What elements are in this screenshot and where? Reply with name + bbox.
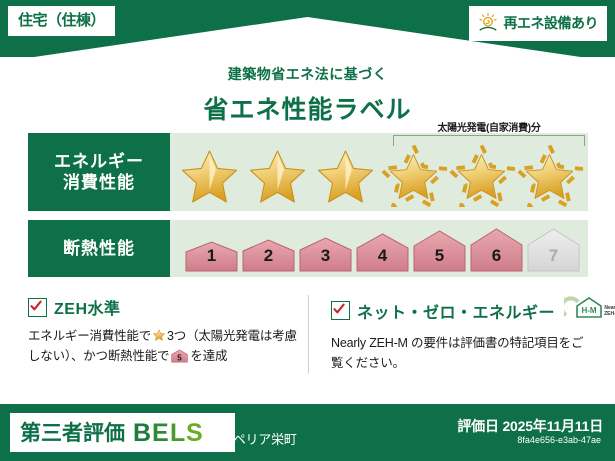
- third-party-evaluation-label: 第三者評価: [20, 417, 125, 447]
- zeh-desc-part3: を達成: [190, 349, 227, 363]
- svg-text:5: 5: [178, 354, 183, 363]
- star-1: [176, 145, 243, 207]
- insulation-performance-row: 断熱性能: [28, 220, 588, 277]
- net-zero-energy-title: ネット・ゼロ・エネルギー: [357, 299, 555, 323]
- insulation-level-4-number: 4: [355, 246, 410, 266]
- renewable-equipment-tag: 再エネ設備あり: [469, 6, 608, 41]
- star-6-solar: [516, 145, 583, 207]
- insulation-level-6: 6: [469, 227, 524, 273]
- svg-text:ZEH-M: ZEH-M: [604, 311, 615, 317]
- star-icon: [152, 328, 166, 342]
- energy-rating-area: 太陽光発電(自家消費)分: [170, 133, 588, 211]
- energy-label-line1: エネルギー: [54, 151, 144, 172]
- star-4-solar: [380, 145, 447, 207]
- energy-star-rating: [176, 145, 583, 207]
- insulation-label-text: 断熱性能: [63, 238, 135, 259]
- insulation-level-2-number: 2: [241, 246, 296, 266]
- evaluation-date: 評価日 2025年11月11日: [457, 416, 603, 436]
- house-level-5-icon: 5: [171, 352, 188, 366]
- star-5-solar: [448, 145, 515, 207]
- insulation-level-2: 2: [241, 238, 296, 273]
- renewable-tag-label: 再エネ設備あり: [504, 16, 599, 30]
- star-3: [312, 145, 379, 207]
- energy-performance-label: エネルギー 消費性能: [28, 133, 170, 211]
- checkmark-icon: [331, 301, 350, 320]
- insulation-rating-area: 1 2 3: [170, 220, 588, 277]
- zeh-standard-description: エネルギー消費性能で3つ（太陽光発電は考慮しない）、かつ断熱性能で5を達成: [28, 326, 308, 370]
- net-zero-energy-heading: ネット・ゼロ・エネルギー H-M Nearly ZEH-M: [331, 295, 588, 326]
- zeh-standard-block: ZEH水準 エネルギー消費性能で3つ（太陽光発電は考慮しない）、かつ断熱性能で5…: [28, 295, 308, 374]
- svg-text:S: S: [186, 419, 203, 445]
- bels-certification-mark: 第三者評価 B E L S: [10, 413, 235, 452]
- insulation-level-1: 1: [184, 240, 239, 273]
- insulation-level-7: 7: [526, 227, 581, 273]
- building-name: エスペリア栄町: [208, 429, 297, 448]
- star-2: [244, 145, 311, 207]
- energy-performance-row: エネルギー 消費性能 太陽光発電(自家消費)分: [28, 133, 588, 211]
- insulation-level-3-number: 3: [298, 246, 353, 266]
- insulation-level-7-number: 7: [526, 246, 581, 266]
- label-footer: 第三者評価 B E L S エスペリア栄町 評価日 2025年11月11日 8f…: [0, 404, 615, 461]
- evaluation-date-value: 2025年11月11日: [502, 418, 603, 434]
- insulation-level-3: 3: [298, 236, 353, 273]
- evaluation-date-label: 評価日: [457, 418, 498, 434]
- evaluation-hash: 8fa4e656-e3ab-47ae: [517, 435, 601, 445]
- insulation-level-1-number: 1: [184, 246, 239, 266]
- page-title: 省エネ性能ラベル: [0, 90, 615, 126]
- svg-text:H-M: H-M: [581, 306, 596, 315]
- svg-text:E: E: [152, 419, 169, 445]
- zeh-m-badge: H-M Nearly ZEH-M: [564, 295, 615, 326]
- energy-performance-label: 住宅（住棟） 再エネ設備あり 建築物省エネ法に基づく 省エネ性能ラベル エネルギ…: [0, 0, 615, 461]
- insulation-performance-label: 断熱性能: [28, 220, 170, 277]
- title-subtitle: 建築物省エネ法に基づく: [0, 64, 615, 84]
- certification-details: ZEH水準 エネルギー消費性能で3つ（太陽光発電は考慮しない）、かつ断熱性能で5…: [28, 295, 588, 374]
- svg-text:B: B: [133, 419, 151, 445]
- insulation-level-5: 5: [412, 229, 467, 273]
- net-zero-energy-description: Nearly ZEH-M の要件は評価書の特記項目をご覧ください。: [331, 333, 588, 374]
- insulation-level-5-number: 5: [412, 246, 467, 266]
- insulation-level-6-number: 6: [469, 246, 524, 266]
- label-body: 建築物省エネ法に基づく 省エネ性能ラベル エネルギー 消費性能 太陽光発電(自家…: [0, 57, 615, 404]
- insulation-level-scale: 1 2 3: [184, 225, 581, 273]
- energy-label-line2: 消費性能: [63, 172, 135, 193]
- zeh-desc-part1: エネルギー消費性能で: [28, 329, 151, 343]
- zeh-standard-heading: ZEH水準: [28, 295, 308, 319]
- net-zero-energy-block: ネット・ゼロ・エネルギー H-M Nearly ZEH-M Nearly ZEH…: [308, 295, 588, 374]
- checkmark-icon: [28, 298, 47, 317]
- svg-text:L: L: [170, 419, 185, 445]
- sun-icon: [477, 12, 499, 34]
- zeh-standard-title: ZEH水準: [54, 295, 121, 319]
- building-type-tag: 住宅（住棟）: [8, 6, 115, 36]
- insulation-level-4: 4: [355, 232, 410, 273]
